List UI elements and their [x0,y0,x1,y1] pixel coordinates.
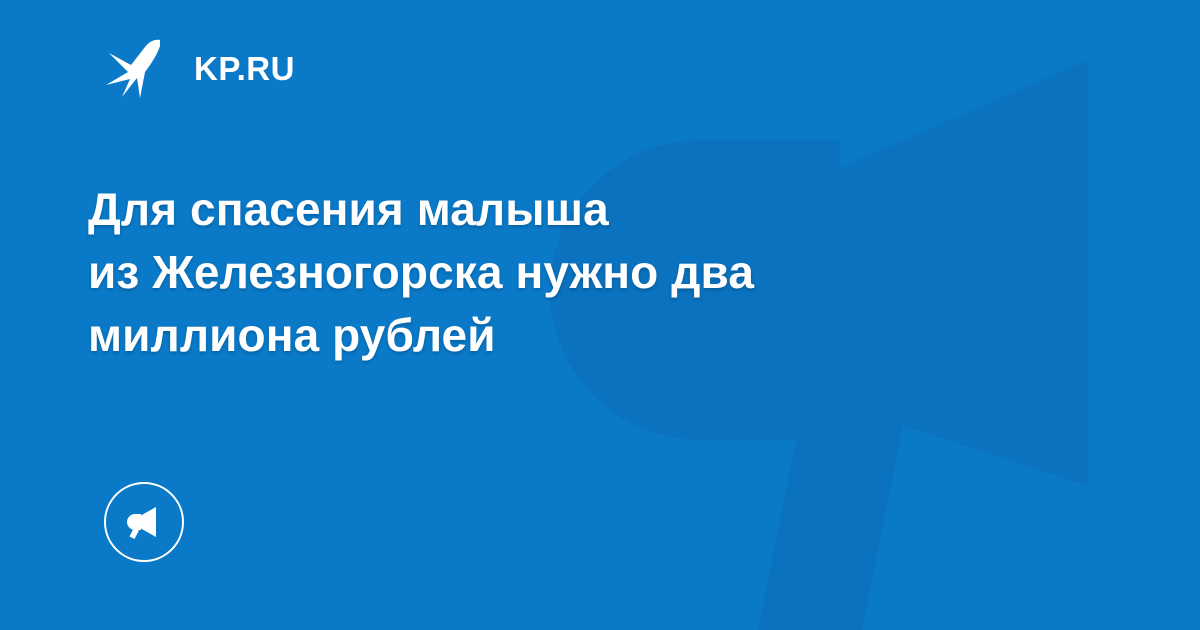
headline-line-2: из Железногорска нужно два [88,241,988,304]
headline-line-1: Для спасения малыша [88,178,988,241]
megaphone-icon [123,501,165,543]
brand-logo-row[interactable]: KP.RU [104,36,295,100]
social-share-card: KP.RU Для спасения малыша из Железногорс… [0,0,1200,630]
headline-line-3: миллиона рублей [88,304,988,367]
brand-name: KP.RU [194,52,295,85]
page-title: Для спасения малыша из Железногорска нуж… [88,178,988,367]
swallow-bird-icon [104,36,168,100]
megaphone-badge[interactable] [104,482,184,562]
